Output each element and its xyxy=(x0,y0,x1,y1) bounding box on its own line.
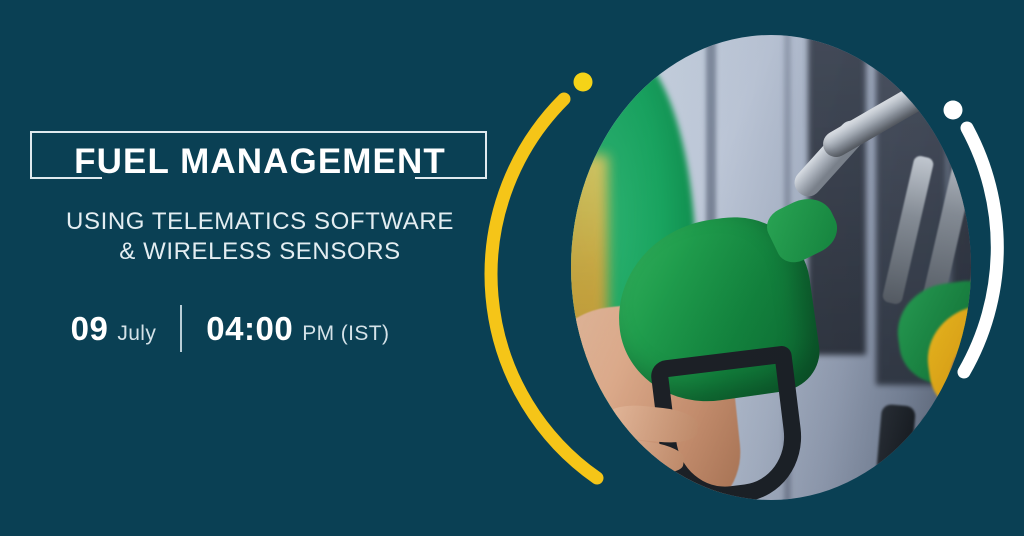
event-date-month: July xyxy=(117,322,156,346)
event-date: 09 July xyxy=(71,310,157,348)
circular-photo xyxy=(571,35,971,500)
event-time-meridiem-zone: PM (IST) xyxy=(302,322,389,346)
page-title: FUEL MANAGEMENT xyxy=(0,143,520,181)
event-time-clock: 04:00 xyxy=(206,310,293,348)
photo-overlay-shading xyxy=(571,35,971,500)
subtitle: USING TELEMATICS SOFTWARE & WIRELESS SEN… xyxy=(0,207,520,267)
event-datetime: 09 July 04:00 PM (IST) xyxy=(0,305,460,352)
photo-area xyxy=(571,35,971,500)
subtitle-line-1: USING TELEMATICS SOFTWARE xyxy=(0,207,520,237)
text-column: FUEL MANAGEMENT USING TELEMATICS SOFTWAR… xyxy=(0,0,520,536)
fuel-nozzle-photo xyxy=(571,35,971,500)
webinar-banner: FUEL MANAGEMENT USING TELEMATICS SOFTWAR… xyxy=(0,0,1024,536)
datetime-divider xyxy=(180,305,182,352)
event-date-day: 09 xyxy=(71,310,109,348)
event-time: 04:00 PM (IST) xyxy=(206,310,389,348)
title-frame-top-line xyxy=(30,131,487,133)
subtitle-line-2: & WIRELESS SENSORS xyxy=(0,237,520,267)
